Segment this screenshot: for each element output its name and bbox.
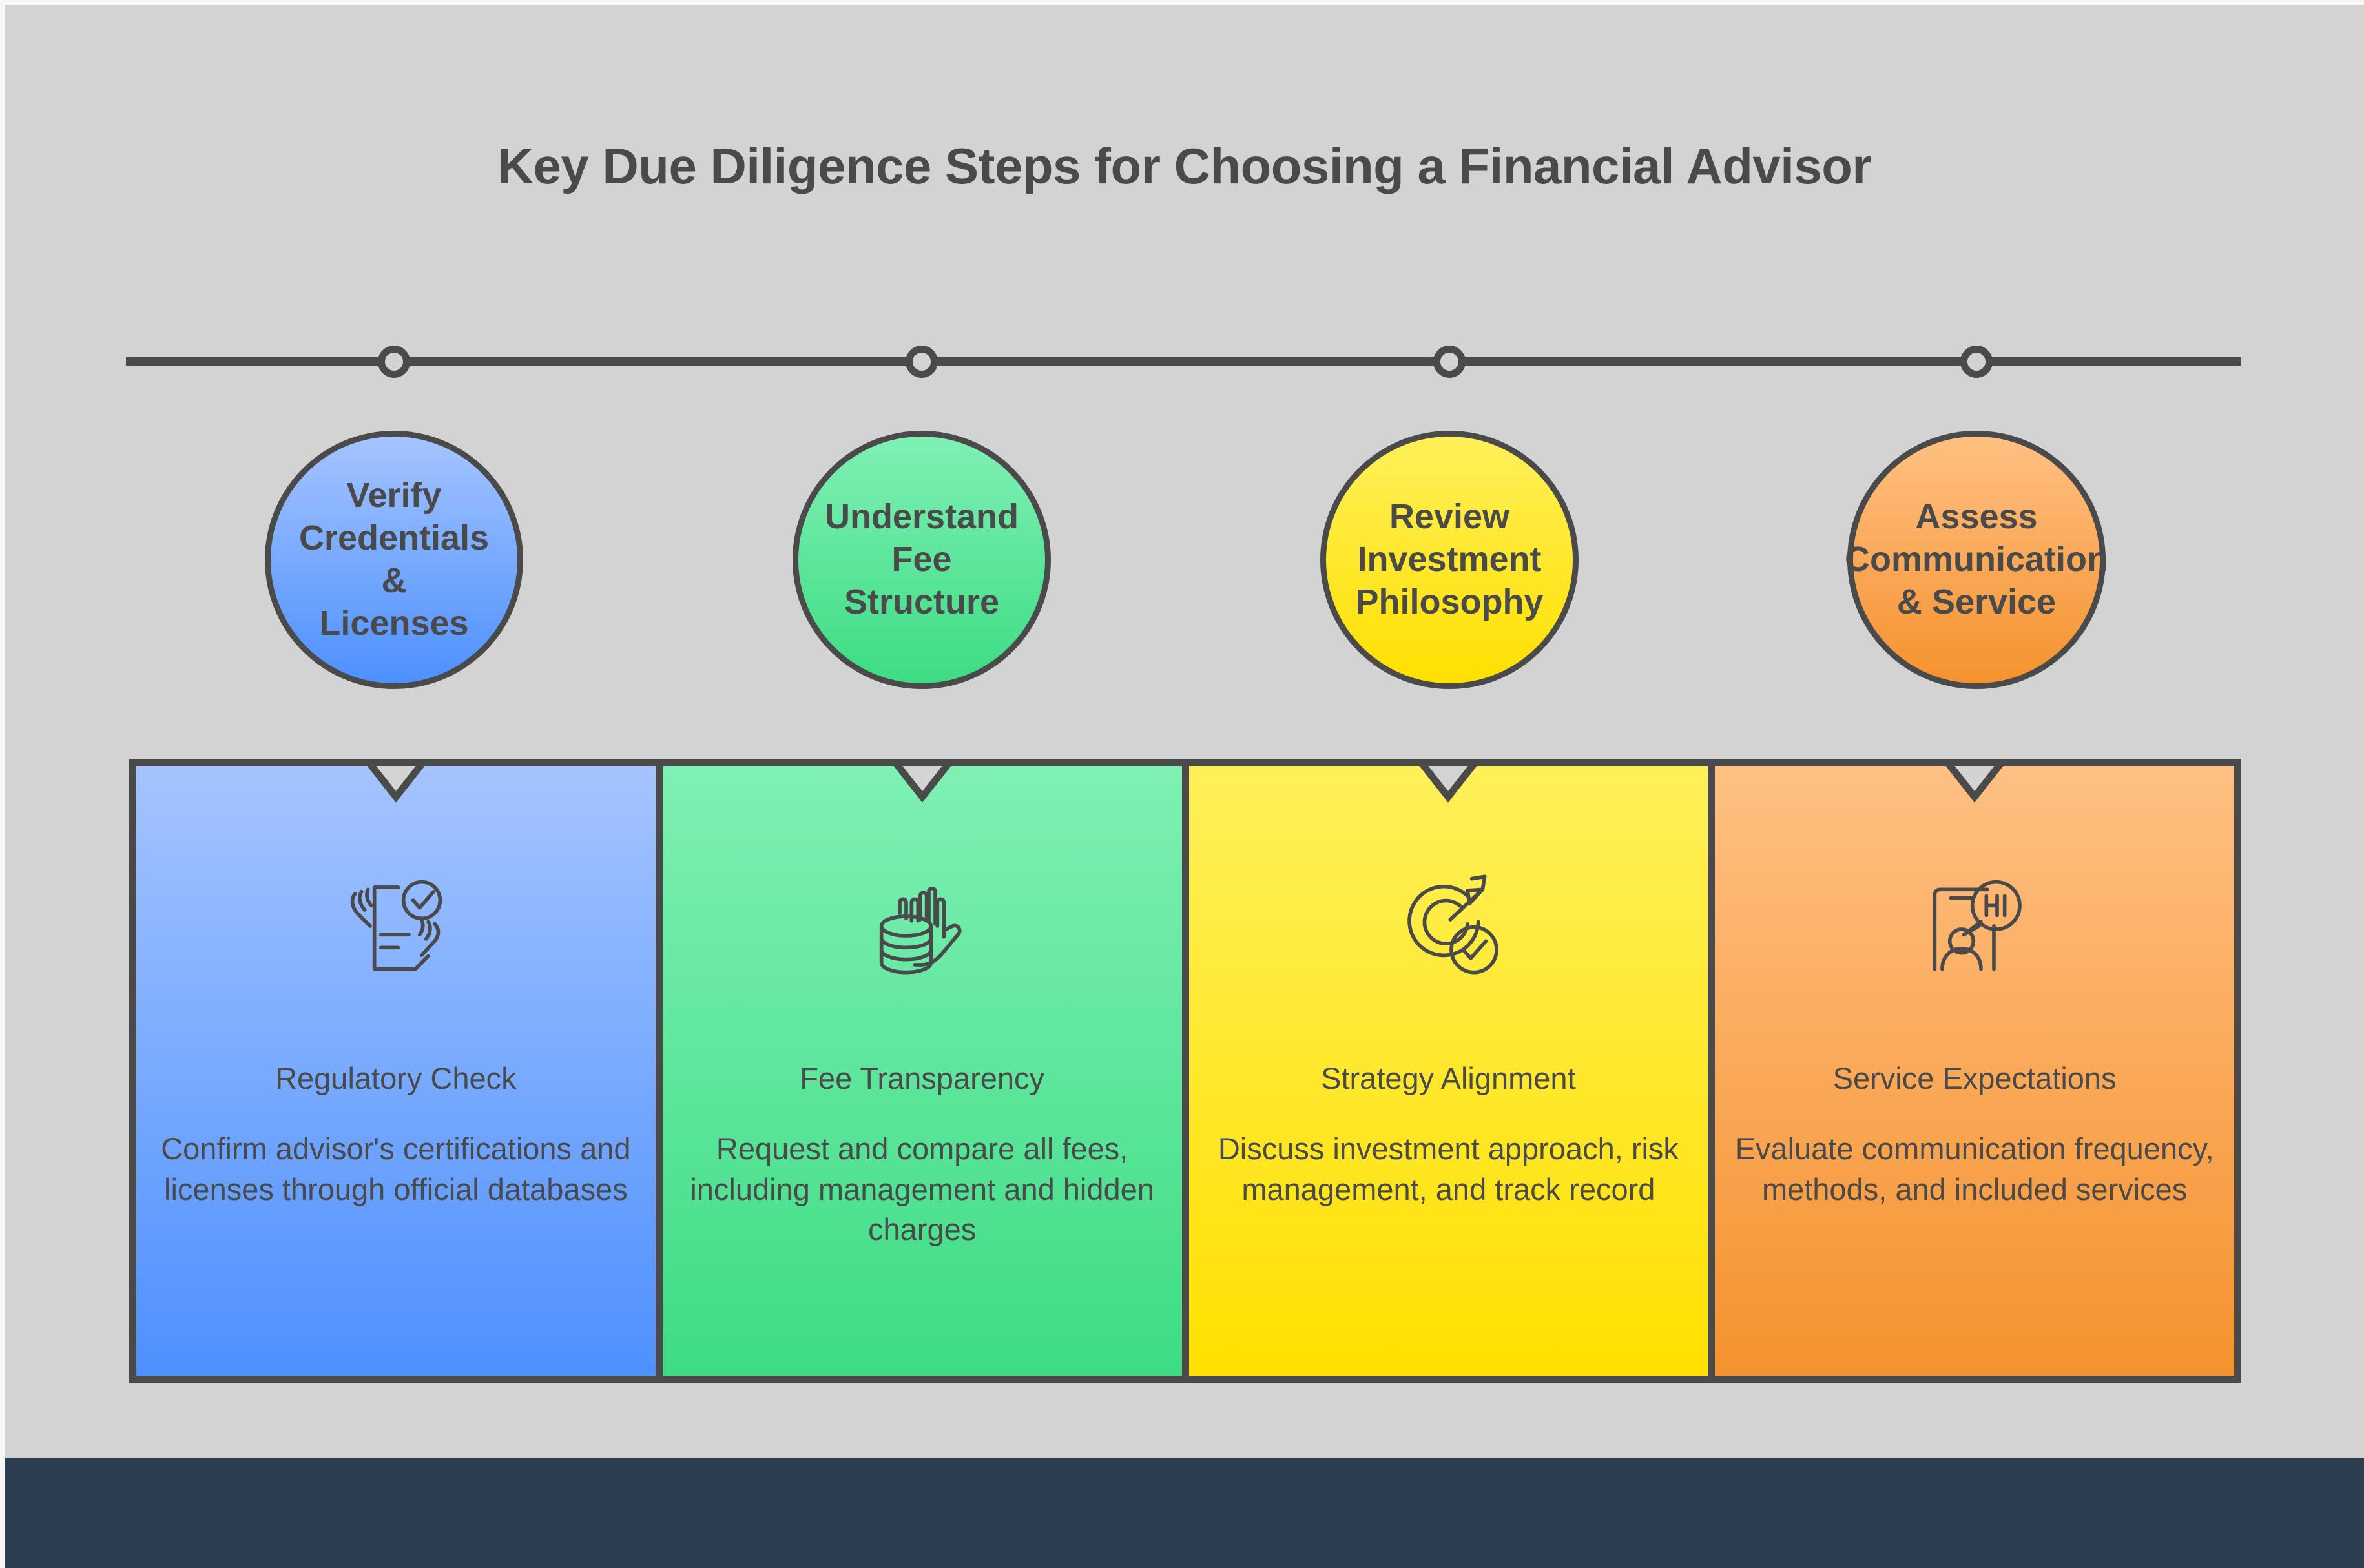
footer-bar — [5, 1458, 2364, 1568]
page-title: Key Due Diligence Steps for Choosing a F… — [5, 137, 2364, 196]
timeline-node-icon — [1960, 346, 1993, 378]
step-panel-1[interactable]: Regulatory Check Confirm advisor's certi… — [136, 766, 663, 1376]
timeline-node-icon — [906, 346, 938, 378]
timeline-line — [126, 357, 2241, 366]
step-circle-1[interactable]: VerifyCredentials&Licenses — [265, 431, 523, 689]
person-speech-hi-icon — [1910, 868, 2039, 991]
panel-notch — [347, 766, 444, 823]
panel-body: Discuss investment approach, risk manage… — [1189, 1129, 1708, 1210]
infographic-canvas: Key Due Diligence Steps for Choosing a F… — [5, 5, 2364, 1568]
panel-heading: Service Expectations — [1833, 1060, 2117, 1097]
panel-heading: Fee Transparency — [800, 1060, 1044, 1097]
timeline-node-icon — [1433, 346, 1466, 378]
document-check-hand-icon — [331, 868, 461, 991]
panel-body: Request and compare all fees, including … — [663, 1129, 1182, 1250]
panel-heading: Strategy Alignment — [1321, 1060, 1576, 1097]
panel-notch — [1926, 766, 2023, 823]
step-circle-label: AssessCommunication& Service — [1845, 496, 2108, 624]
coins-hand-icon — [858, 868, 987, 991]
target-arrow-check-icon — [1384, 868, 1513, 991]
step-circle-label: VerifyCredentials&Licenses — [299, 475, 489, 645]
timeline-node-icon — [378, 346, 410, 378]
panel-heading: Regulatory Check — [275, 1060, 517, 1097]
panel-body: Confirm advisor's certifications and lic… — [136, 1129, 656, 1210]
step-circle-label: ReviewInvestmentPhilosophy — [1355, 496, 1543, 624]
step-panel-3[interactable]: Strategy Alignment Discuss investment ap… — [1189, 766, 1716, 1376]
step-circle-2[interactable]: UnderstandFeeStructure — [793, 431, 1051, 689]
panel-notch — [874, 766, 971, 823]
step-circle-4[interactable]: AssessCommunication& Service — [1847, 431, 2106, 689]
panel-body: Evaluate communication frequency, method… — [1715, 1129, 2234, 1210]
step-circle-3[interactable]: ReviewInvestmentPhilosophy — [1320, 431, 1579, 689]
panel-notch — [1400, 766, 1497, 823]
step-panels: Regulatory Check Confirm advisor's certi… — [129, 759, 2241, 1383]
step-circle-label: UnderstandFeeStructure — [825, 496, 1019, 624]
step-panel-4[interactable]: Service Expectations Evaluate communicat… — [1715, 766, 2234, 1376]
step-panel-2[interactable]: Fee Transparency Request and compare all… — [663, 766, 1189, 1376]
